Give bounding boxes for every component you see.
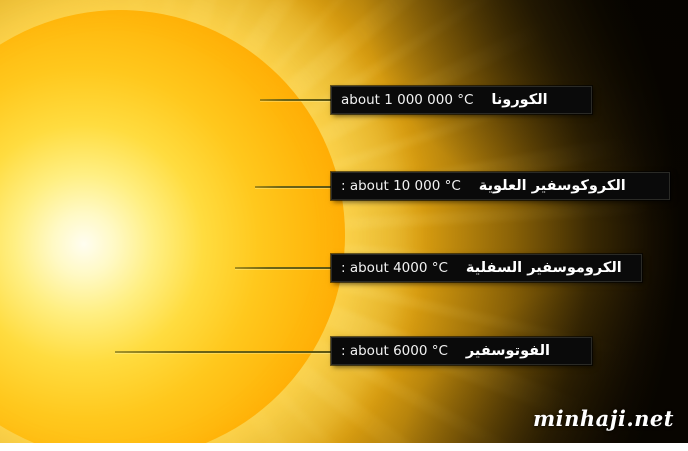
label-photosphere: الفوتوسفير : about 6000 °C	[331, 337, 592, 365]
label-term-lower-chromosphere: الكروموسفير السفلية	[466, 260, 622, 276]
watermark: minhaji.net	[533, 406, 674, 431]
label-upper-chromosphere: الكروكوسفير العلوية : about 10 000 °C	[331, 172, 670, 200]
label-value-lower-chromosphere: : about 4000 °C	[341, 260, 448, 276]
label-value-corona: about 1 000 000 °C	[341, 92, 473, 108]
label-lower-chromosphere: الكروموسفير السفلية : about 4000 °C	[331, 254, 642, 282]
sun-layers-diagram: الكورونا about 1 000 000 °C الكروكوسفير …	[0, 0, 688, 451]
label-term-corona: الكورونا	[491, 92, 547, 108]
leader-line-upper-chromosphere	[255, 186, 331, 188]
leader-line-lower-chromosphere	[235, 267, 331, 269]
leader-line-photosphere	[115, 351, 331, 353]
leader-line-corona	[260, 99, 331, 101]
label-value-upper-chromosphere: : about 10 000 °C	[341, 178, 461, 194]
label-term-photosphere: الفوتوسفير	[466, 343, 550, 359]
label-term-upper-chromosphere: الكروكوسفير العلوية	[479, 178, 626, 194]
label-corona: الكورونا about 1 000 000 °C	[331, 86, 592, 114]
label-value-photosphere: : about 6000 °C	[341, 343, 448, 359]
bottom-white-strip	[0, 443, 688, 451]
